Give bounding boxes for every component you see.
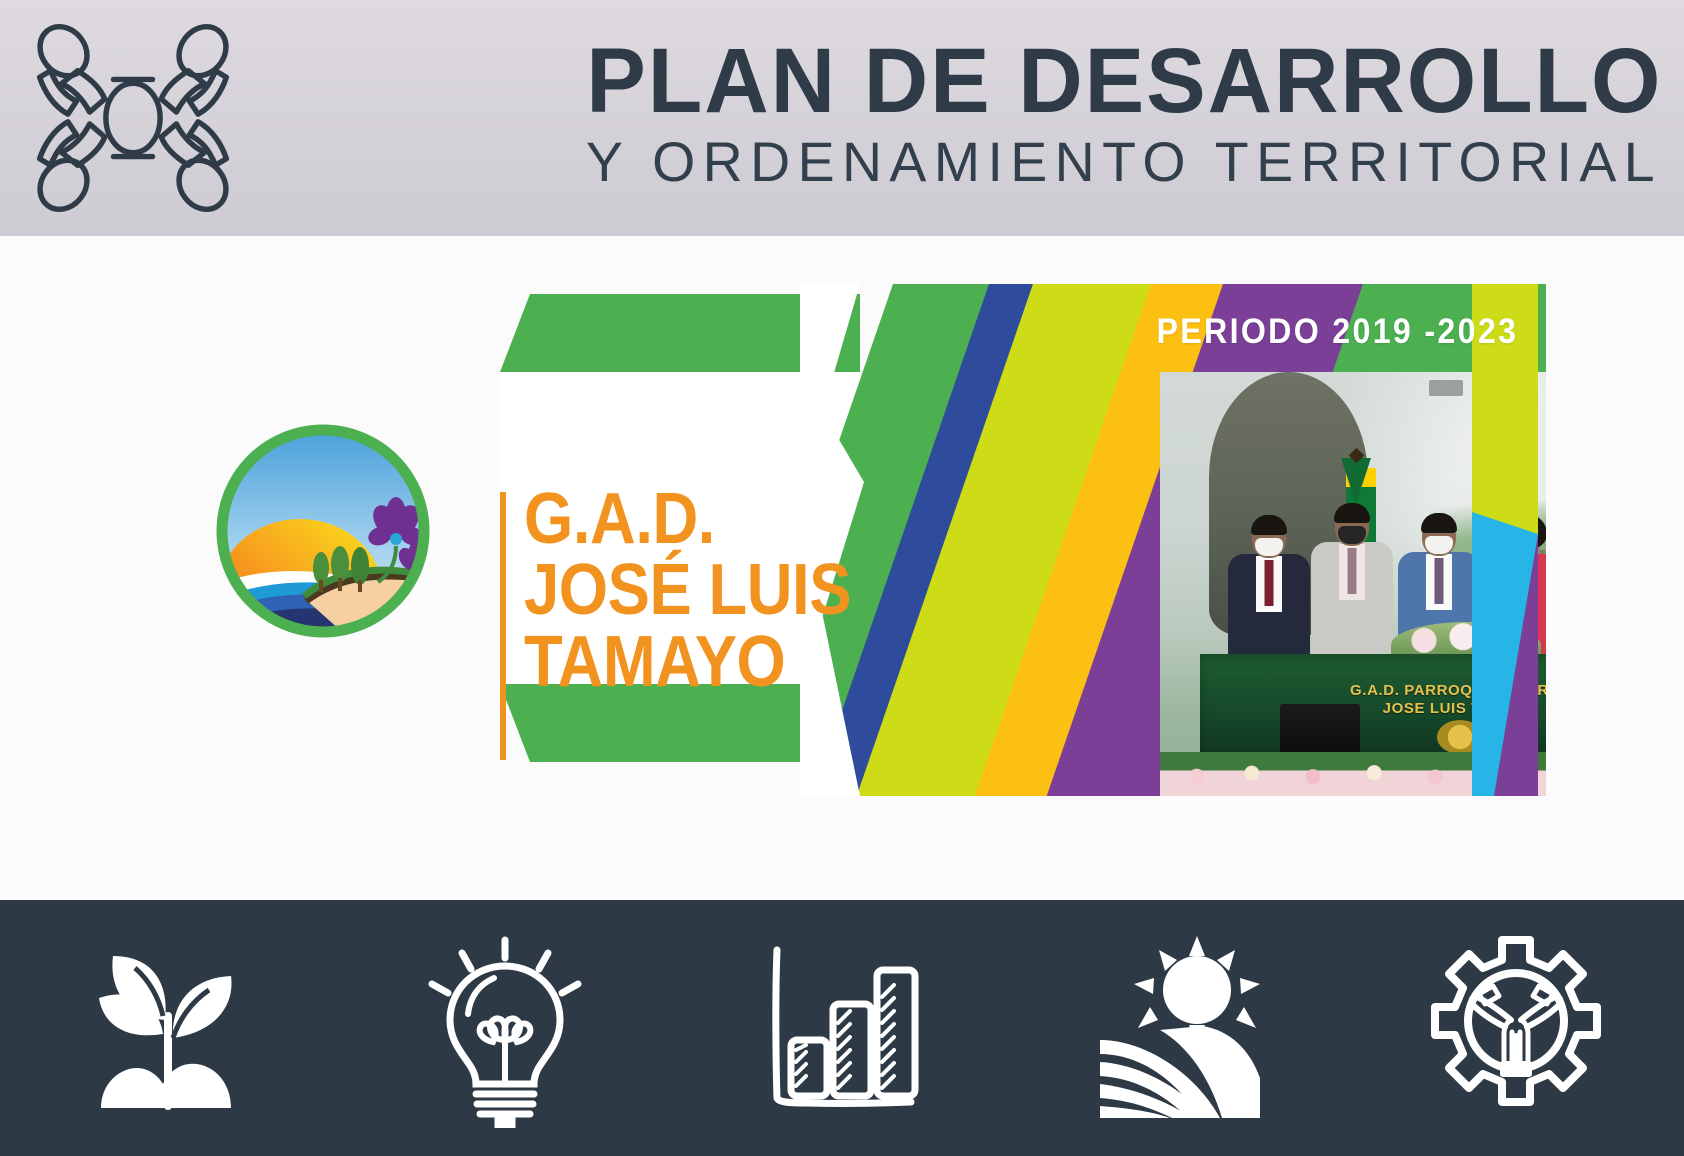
diagonal-band-cluster: PERIODO 2019 -2023 [800, 284, 1546, 796]
main-content: PERIODO 2019 -2023 [0, 236, 1684, 900]
ceiling-light [1429, 380, 1463, 396]
bar-chart-icon [747, 928, 937, 1128]
page-title: PLAN DE DESARROLLO [586, 37, 1662, 126]
official-2 [1308, 506, 1396, 668]
footer-icon-bar [0, 900, 1684, 1156]
page-subtitle: Y ORDENAMIENTO TERRITORIAL [586, 130, 1662, 194]
community-people-circle-icon [24, 23, 242, 213]
right-color-strips [1472, 284, 1538, 796]
org-banner-card: PERIODO 2019 -2023 [500, 284, 1546, 796]
gear-teamwork-icon [1421, 928, 1611, 1128]
official-1 [1228, 518, 1310, 668]
org-text-wrap: G.A.D. JOSÉ LUIS TAMAYO [536, 372, 866, 684]
org-name-line2: JOSÉ LUIS [524, 555, 894, 626]
org-name-line1: G.A.D. [524, 484, 894, 555]
pennant-left [1341, 458, 1371, 504]
header-band: PLAN DE DESARROLLO Y ORDENAMIENTO TERRIT… [0, 0, 1684, 236]
org-name-line3: TAMAYO [524, 627, 894, 698]
plant-sprout-icon [73, 928, 263, 1128]
period-label: PERIODO 2019 -2023 [1156, 312, 1518, 352]
sun-field-icon [1084, 928, 1274, 1128]
header-titles: PLAN DE DESARROLLO Y ORDENAMIENTO TERRIT… [242, 37, 1684, 195]
gad-landscape-emblem-icon [208, 416, 438, 646]
orange-divider-rule [500, 492, 506, 760]
org-name: G.A.D. JOSÉ LUIS TAMAYO [524, 484, 894, 698]
lightbulb-icon [410, 928, 600, 1128]
